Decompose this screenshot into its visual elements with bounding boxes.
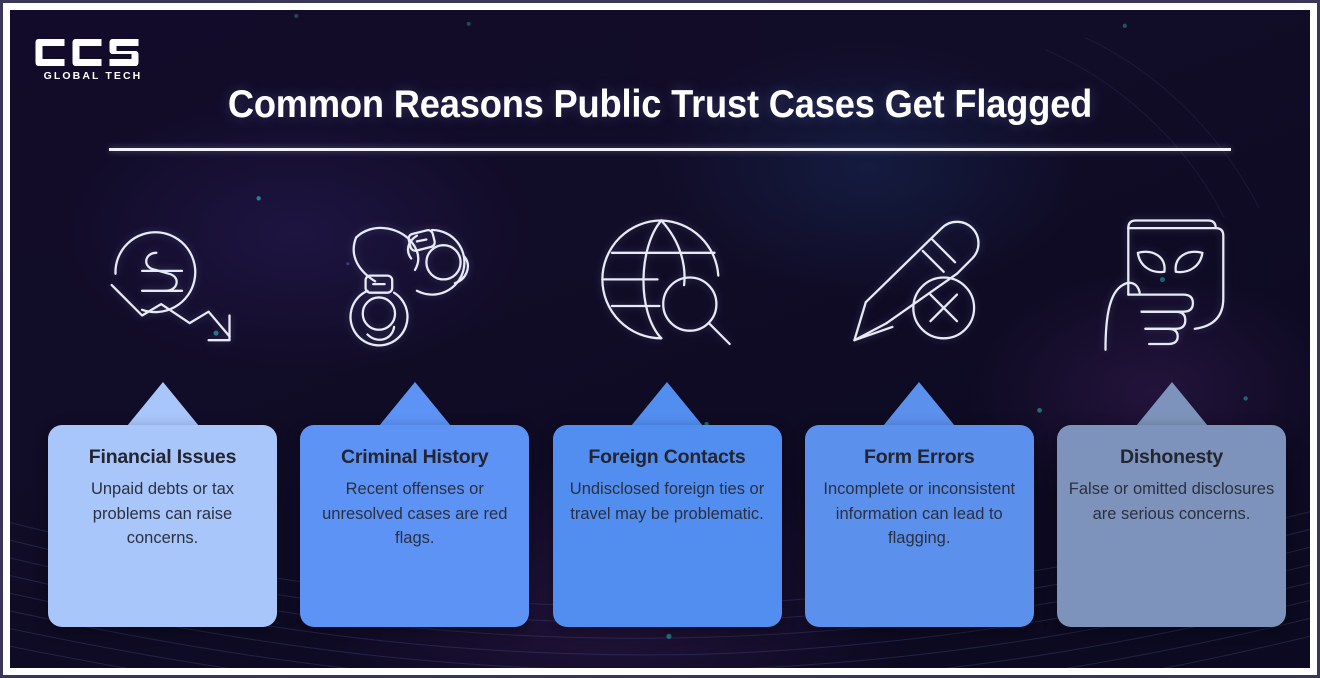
brand-tagline: GLOBAL TECH (35, 70, 151, 82)
card-pointer (379, 382, 451, 426)
reason-column-criminal-history: Criminal History Recent offenses or unre… (300, 192, 529, 627)
reason-card[interactable]: Foreign Contacts Undisclosed foreign tie… (553, 425, 782, 627)
reason-card[interactable]: Dishonesty False or omitted disclosures … (1057, 425, 1286, 627)
title-divider (109, 148, 1231, 151)
card-title: Financial Issues (56, 447, 269, 468)
reason-column-financial-issues: Financial Issues Unpaid debts or tax pro… (48, 192, 277, 627)
handcuffs-icon (339, 192, 491, 382)
card-pointer (631, 382, 703, 426)
ccs-logo-icon (35, 37, 151, 68)
card-pointer (883, 382, 955, 426)
card-title: Form Errors (813, 447, 1026, 468)
money-decline-icon (87, 192, 239, 382)
reason-column-form-errors: Form Errors Incomplete or inconsistent i… (805, 192, 1034, 627)
reason-card[interactable]: Criminal History Recent offenses or unre… (300, 425, 529, 627)
card-description: Incomplete or inconsistent information c… (813, 477, 1026, 550)
infographic-frame: GLOBAL TECH Common Reasons Public Trust … (0, 0, 1320, 678)
card-description: Recent offenses or unresolved cases are … (308, 477, 521, 550)
card-holder: Criminal History Recent offenses or unre… (300, 382, 529, 627)
reason-card[interactable]: Financial Issues Unpaid debts or tax pro… (48, 425, 277, 627)
card-holder: Form Errors Incomplete or inconsistent i… (805, 382, 1034, 627)
mask-hand-icon (1096, 192, 1248, 382)
reason-column-foreign-contacts: Foreign Contacts Undisclosed foreign tie… (553, 192, 782, 627)
card-pointer (1136, 382, 1208, 426)
card-pointer (127, 382, 199, 426)
card-holder: Financial Issues Unpaid debts or tax pro… (48, 382, 277, 627)
brand-logo: GLOBAL TECH (35, 37, 151, 82)
card-holder: Foreign Contacts Undisclosed foreign tie… (553, 382, 782, 627)
card-description: Unpaid debts or tax problems can raise c… (56, 477, 269, 550)
infographic-canvas: GLOBAL TECH Common Reasons Public Trust … (10, 10, 1310, 668)
pencil-error-icon (843, 192, 995, 382)
card-description: False or omitted disclosures are serious… (1065, 477, 1278, 526)
card-description: Undisclosed foreign ties or travel may b… (561, 477, 774, 526)
card-title: Foreign Contacts (561, 447, 774, 468)
card-title: Criminal History (308, 447, 521, 468)
reason-card[interactable]: Form Errors Incomplete or inconsistent i… (805, 425, 1034, 627)
globe-search-icon (591, 192, 743, 382)
reason-column-dishonesty: Dishonesty False or omitted disclosures … (1057, 192, 1286, 627)
card-holder: Dishonesty False or omitted disclosures … (1057, 382, 1286, 627)
reason-cards-row: Financial Issues Unpaid debts or tax pro… (48, 192, 1286, 627)
page-title: Common Reasons Public Trust Cases Get Fl… (56, 83, 1265, 127)
card-title: Dishonesty (1065, 447, 1278, 468)
